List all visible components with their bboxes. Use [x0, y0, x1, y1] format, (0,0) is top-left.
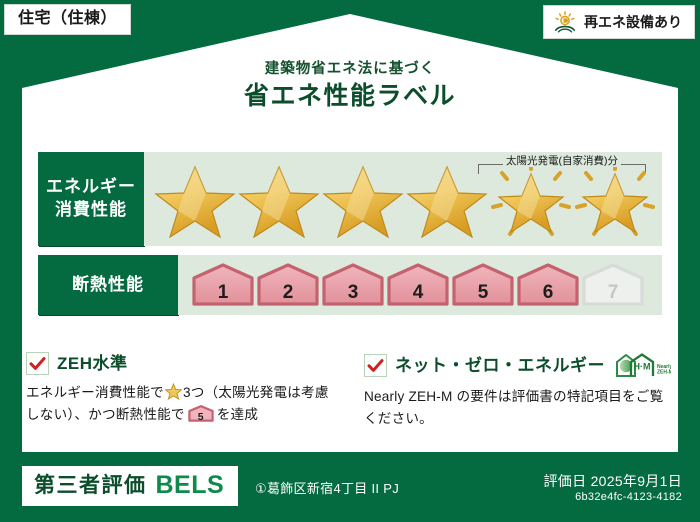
grade-badge: 5: [452, 263, 514, 307]
renewable-badge-label: 再エネ設備あり: [584, 15, 682, 29]
energy-label-line1: エネルギー: [46, 176, 136, 199]
grade-value: 1: [192, 283, 254, 302]
grade-badge: 6: [517, 263, 579, 307]
bels-energy-label: 住宅（住棟） 再エネ設備あり 建築物省エネ法に基づく 省エネ性能ラベル: [0, 0, 700, 522]
star-filled: [238, 160, 320, 238]
grade-value: 3: [322, 283, 384, 302]
bels-jp-text: 第三者評価: [34, 475, 147, 496]
grade-badge: 4: [387, 263, 449, 307]
red-check-icon: [26, 352, 49, 375]
star-solar-sparkle: [574, 160, 656, 238]
svg-text:ZEH-M: ZEH-M: [657, 370, 671, 376]
net-zero-title: ネット・ゼロ・エネルギー: [395, 357, 605, 374]
star-filled: [406, 160, 488, 238]
grade-value: 7: [582, 283, 644, 302]
zeh-standard-text: エネルギー消費性能で3つ（太陽光発電は考慮しない）、かつ断熱性能で5を達成: [26, 382, 334, 426]
bels-en-text: BELS: [156, 473, 225, 498]
title-main: 省エネ性能ラベル: [0, 84, 700, 109]
zeh-text-part3: を達成: [217, 407, 258, 422]
star-filled: [322, 160, 404, 238]
grade-badge: 3: [322, 263, 384, 307]
label-title-block: 建築物省エネ法に基づく 省エネ性能ラベル: [0, 62, 700, 109]
grade-value: 4: [387, 283, 449, 302]
grade-badge: 2: [257, 263, 319, 307]
energy-performance-row: エネルギー 消費性能 太陽光発電(自家消費)分: [38, 152, 662, 246]
inline-grade-badge: 5: [188, 405, 214, 422]
evaluation-date: 評価日 2025年9月1日: [543, 472, 682, 490]
renewable-energy-badge: 再エネ設備あり: [543, 5, 695, 39]
energy-star-area: 太陽光発電(自家消費)分: [144, 152, 662, 246]
insulation-performance-row: 断熱性能 1: [38, 255, 662, 315]
insulation-label-text: 断熱性能: [72, 274, 144, 297]
grade-badge: 1: [192, 263, 254, 307]
zeh-text-part1: エネルギー消費性能で: [26, 385, 164, 400]
grade-value: 2: [257, 283, 319, 302]
star-solar-sparkle: [490, 160, 572, 238]
evaluation-id: 6b32e4fc-4123-4182: [543, 490, 682, 505]
zeh-standard-title: ZEH水準: [57, 355, 128, 372]
energy-performance-label: エネルギー 消費性能: [38, 152, 144, 246]
zeh-standard-heading: ZEH水準: [26, 352, 334, 375]
nearly-zeh-m-logo: H·M Nearly ZEH-M: [615, 352, 671, 379]
zeh-standard-block: ZEH水準 エネルギー消費性能で3つ（太陽光発電は考慮しない）、かつ断熱性能で5…: [26, 352, 350, 430]
grade-value: 5: [452, 283, 514, 302]
project-name: ①葛飾区新宿4丁目 II PJ: [255, 482, 399, 495]
energy-label-line2: 消費性能: [55, 199, 127, 222]
label-footer: 第三者評価 BELS ①葛飾区新宿4丁目 II PJ 評価日 2025年9月1日…: [0, 456, 700, 522]
info-columns: ZEH水準 エネルギー消費性能で3つ（太陽光発電は考慮しない）、かつ断熱性能で5…: [26, 352, 674, 430]
category-tag: 住宅（住棟）: [4, 4, 131, 35]
grade-strip: 1 2 3: [184, 263, 644, 307]
grade-badge-inactive: 7: [582, 263, 644, 307]
net-zero-text: Nearly ZEH-M の要件は評価書の特記項目をご覧ください。: [364, 386, 674, 430]
small-gold-star-icon: [165, 383, 182, 400]
solar-sun-icon: [553, 11, 577, 33]
red-check-icon: [364, 354, 387, 377]
title-subtitle: 建築物省エネ法に基づく: [0, 62, 700, 77]
grade-value: 6: [517, 283, 579, 302]
inline-grade-value: 5: [188, 412, 214, 423]
net-zero-heading: ネット・ゼロ・エネルギー H·M Nearly ZEH-M: [364, 352, 674, 379]
insulation-grade-area: 1 2 3: [178, 255, 662, 315]
insulation-performance-label: 断熱性能: [38, 255, 178, 315]
bels-certification-mark: 第三者評価 BELS: [22, 466, 238, 506]
evaluation-meta: 評価日 2025年9月1日 6b32e4fc-4123-4182: [543, 472, 682, 506]
net-zero-energy-block: ネット・ゼロ・エネルギー H·M Nearly ZEH-M: [350, 352, 674, 430]
svg-text:H·M: H·M: [634, 362, 651, 372]
star-strip: [154, 160, 656, 238]
star-filled: [154, 160, 236, 238]
rating-rows: エネルギー 消費性能 太陽光発電(自家消費)分: [38, 152, 662, 324]
